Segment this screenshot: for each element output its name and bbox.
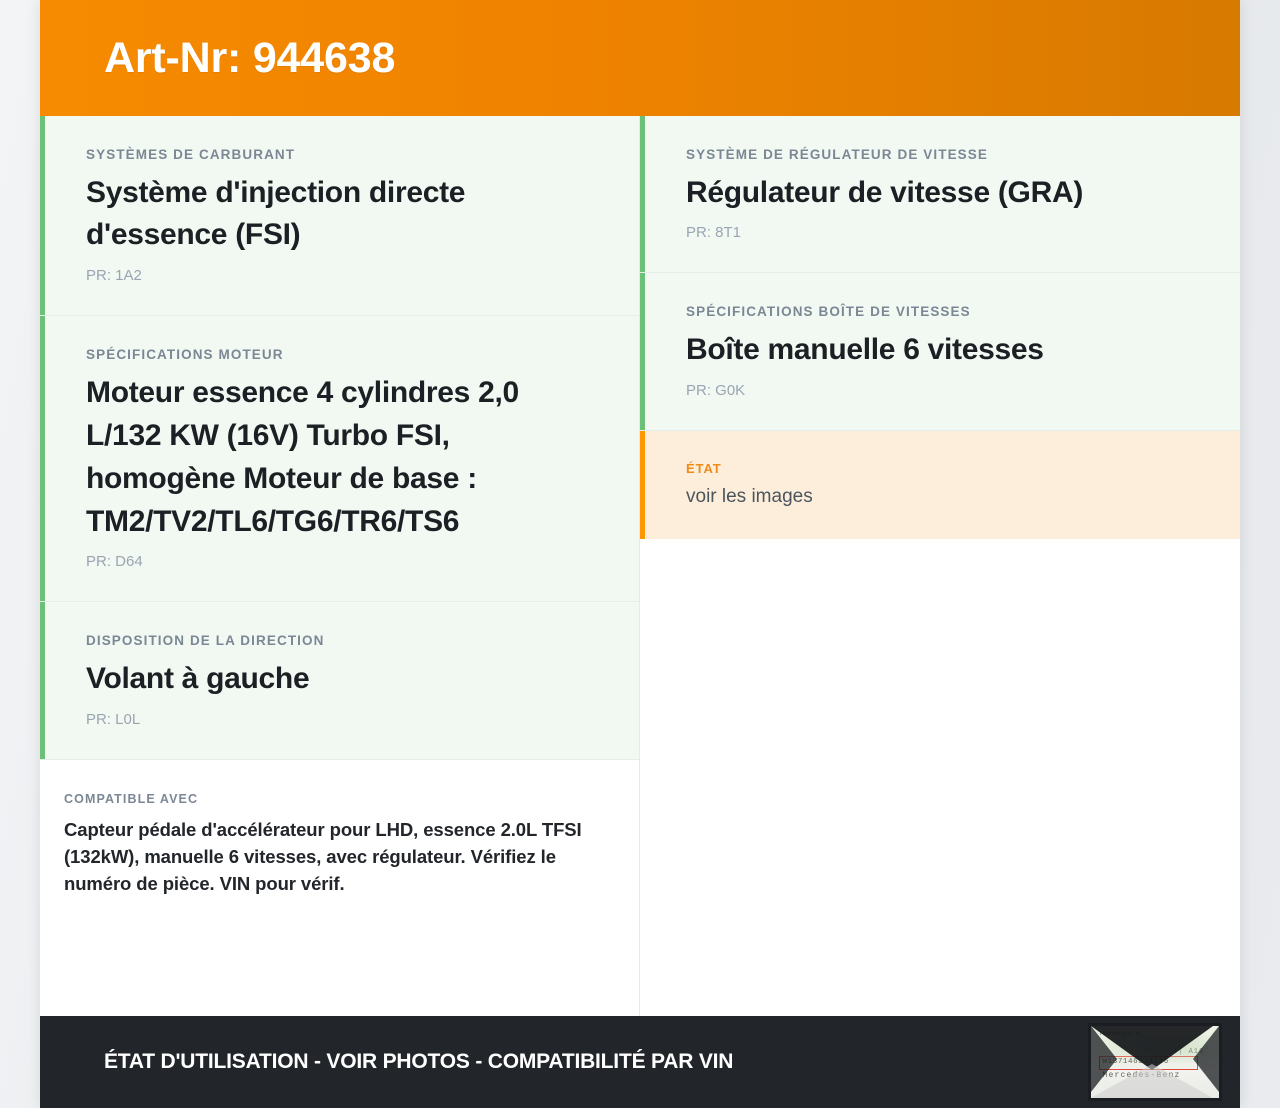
spec-card-label: DISPOSITION DE LA DIRECTION xyxy=(86,632,593,650)
spec-card-title: Moteur essence 4 cylindres 2,0 L/132 KW … xyxy=(86,372,593,544)
spec-card-pr-code: PR: D64 xyxy=(86,553,593,571)
spec-card-title: Régulateur de vitesse (GRA) xyxy=(686,172,1194,215)
spec-card-label: SPÉCIFICATIONS BOÎTE DE VITESSES xyxy=(686,303,1194,321)
header-bar: Art-Nr: 944638 xyxy=(40,0,1240,116)
envelope-left-fold-icon xyxy=(1091,1026,1117,1092)
spec-card-gearbox[interactable]: SPÉCIFICATIONS BOÎTE DE VITESSES Boîte m… xyxy=(640,273,1240,430)
spec-card-pr-code: PR: L0L xyxy=(86,711,593,729)
envelope-right-fold-icon xyxy=(1193,1026,1219,1092)
spec-card-label: SYSTÈMES DE CARBURANT xyxy=(86,146,593,164)
footer-bar: ÉTAT D'UTILISATION - VOIR PHOTOS - COMPA… xyxy=(40,1016,1240,1108)
condition-value: voir les images xyxy=(686,485,1194,510)
right-column: SYSTÈME DE RÉGULATEUR DE VITESSE Régulat… xyxy=(640,116,1240,1016)
compatible-with-label: COMPATIBLE AVEC xyxy=(64,792,593,806)
spec-card-pr-code: PR: G0K xyxy=(686,382,1194,400)
spec-card-steering[interactable]: DISPOSITION DE LA DIRECTION Volant à gau… xyxy=(40,602,639,759)
spec-card-pr-code: PR: 1A2 xyxy=(86,267,593,285)
spec-card-fuel-system[interactable]: SYSTÈMES DE CARBURANT Système d'injectio… xyxy=(40,116,639,316)
spec-card-label: SPÉCIFICATIONS MOTEUR xyxy=(86,346,593,364)
right-column-filler xyxy=(640,539,1240,1016)
compatible-with-section: COMPATIBLE AVEC Capteur pédale d'accélér… xyxy=(40,760,639,921)
spec-card-label: SYSTÈME DE RÉGULATEUR DE VITESSE xyxy=(686,146,1194,164)
compatible-with-text: Capteur pédale d'accélérateur pour LHD, … xyxy=(64,817,593,897)
footer-notice-text: ÉTAT D'UTILISATION - VOIR PHOTOS - COMPA… xyxy=(104,1050,733,1074)
left-column-filler xyxy=(40,921,639,1016)
left-column: SYSTÈMES DE CARBURANT Système d'injectio… xyxy=(40,116,640,1016)
spec-card-pr-code: PR: 8T1 xyxy=(686,224,1194,242)
spec-card-title: Volant à gauche xyxy=(86,658,593,701)
condition-card[interactable]: ÉTAT voir les images xyxy=(640,431,1240,540)
spec-card-engine[interactable]: SPÉCIFICATIONS MOTEUR Moteur essence 4 c… xyxy=(40,316,639,602)
product-spec-sheet: Art-Nr: 944638 SYSTÈMES DE CARBURANT Sys… xyxy=(40,0,1240,1108)
spec-card-title: Système d'injection directe d'essence (F… xyxy=(86,172,593,258)
spec-body: SYSTÈMES DE CARBURANT Système d'injectio… xyxy=(40,116,1240,1016)
vin-document-thumbnail[interactable]: Fahrgestell-Nr. |4| A16 W1371463J3146 Me… xyxy=(1088,1023,1222,1101)
condition-label: ÉTAT xyxy=(686,461,1194,478)
spec-card-cruise-control[interactable]: SYSTÈME DE RÉGULATEUR DE VITESSE Régulat… xyxy=(640,116,1240,273)
article-number-title: Art-Nr: 944638 xyxy=(104,37,395,80)
spec-card-title: Boîte manuelle 6 vitesses xyxy=(686,329,1194,372)
